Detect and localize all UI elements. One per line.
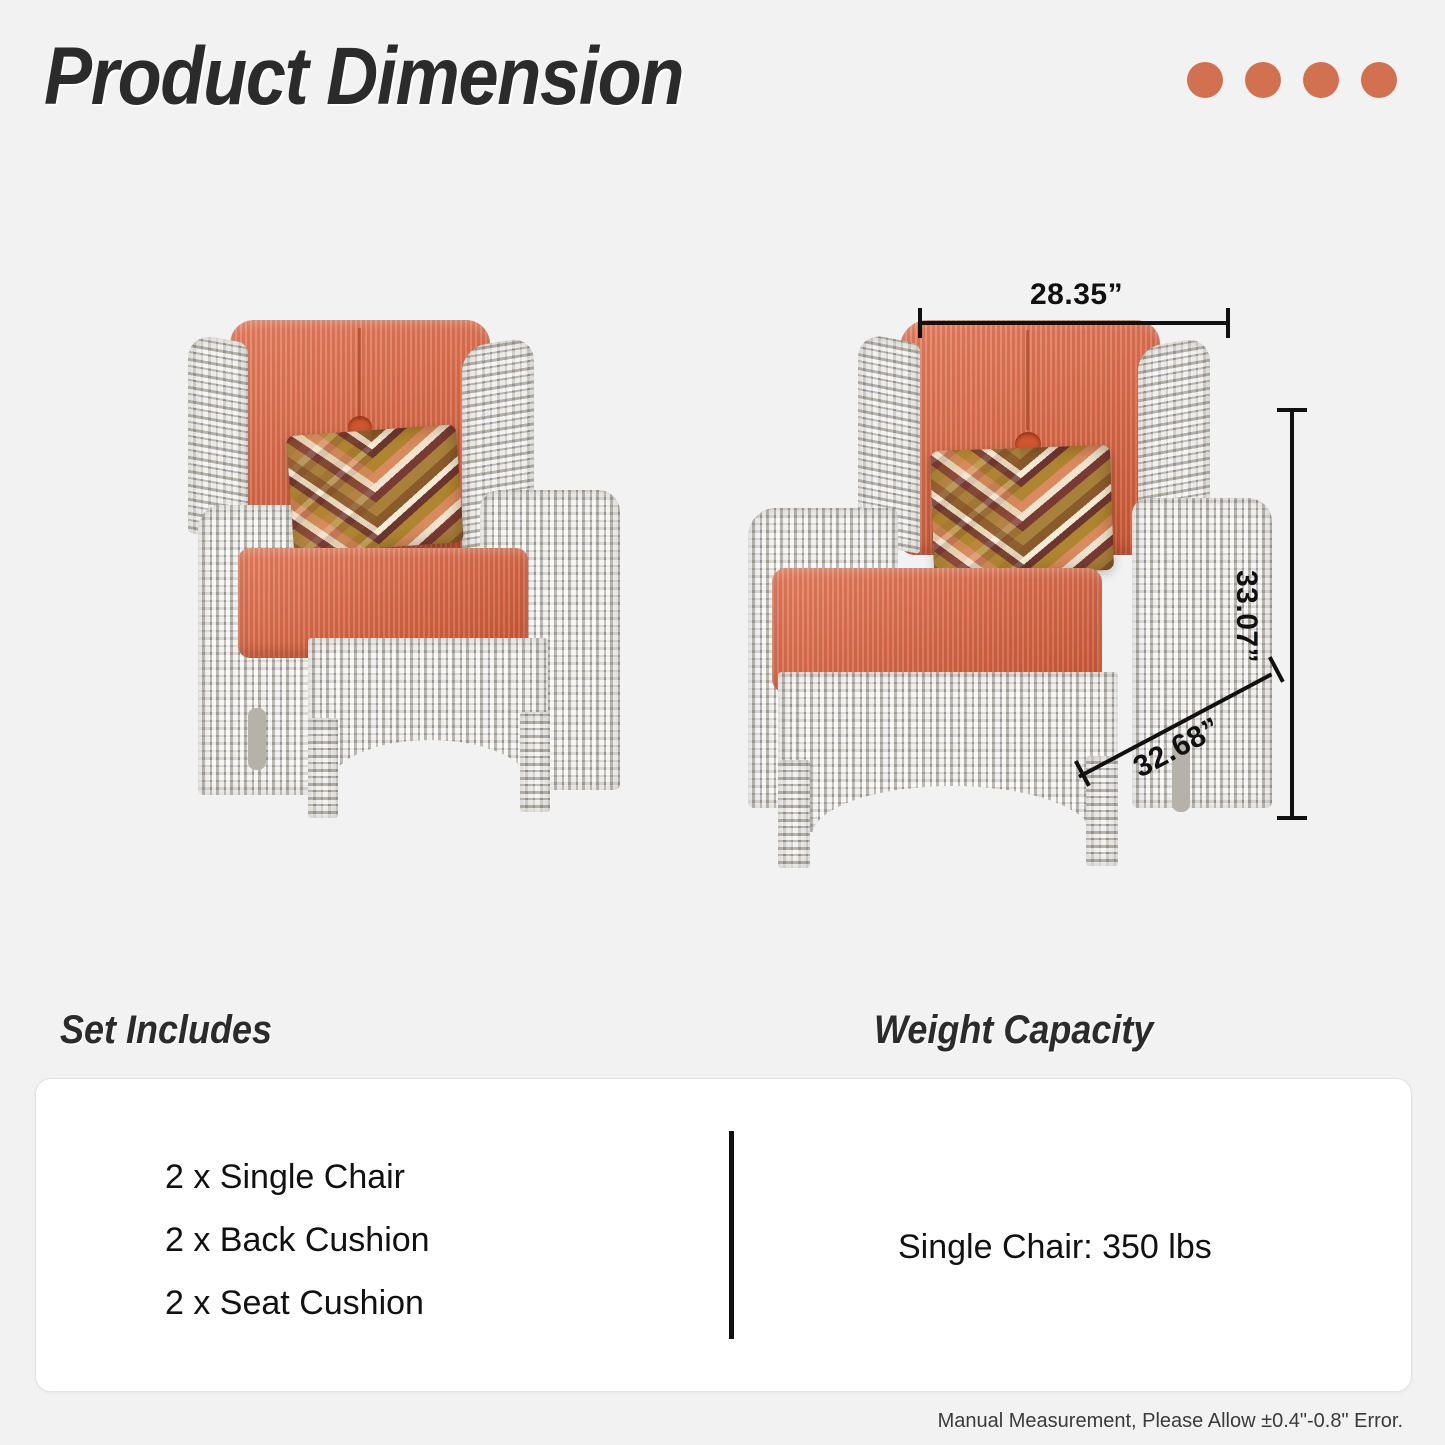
chair-leg-rear-left [248, 708, 266, 770]
list-item: 2 x Back Cushion [165, 1223, 430, 1257]
page-title: Product Dimension [44, 36, 683, 118]
measurement-disclaimer: Manual Measurement, Please Allow ±0.4"-0… [938, 1410, 1403, 1433]
set-includes-list: 2 x Single Chair 2 x Back Cushion 2 x Se… [165, 1160, 430, 1349]
chair-skirt-arch-right [812, 786, 1092, 886]
product-illustration: 28.35” 33.07” 32.68” [0, 170, 1445, 980]
weight-capacity-title: Weight Capacity [874, 1008, 1153, 1053]
dimension-height-line [1290, 410, 1294, 820]
dot-icon-1 [1187, 62, 1223, 98]
decorative-dots [1187, 62, 1397, 98]
list-item: 2 x Seat Cushion [165, 1286, 430, 1320]
dimension-height-cap-top [1277, 408, 1307, 412]
chair-leg-front-right-left [520, 712, 550, 812]
infographic-page: Product Dimension [0, 0, 1445, 1445]
throw-pillow-left [286, 424, 464, 554]
dimension-width-cap-right [1226, 308, 1230, 338]
card-divider [729, 1131, 734, 1339]
list-item: 2 x Single Chair [165, 1160, 430, 1194]
dot-icon-3 [1303, 62, 1339, 98]
back-cushion-seam-right [1026, 330, 1029, 430]
chair-left [180, 320, 660, 820]
throw-pillow-right [930, 445, 1114, 576]
chair-leg-front-left-right [778, 760, 810, 868]
back-cushion-seam-left [358, 328, 361, 420]
dimension-height-label: 33.07” [1229, 570, 1263, 663]
dot-icon-2 [1245, 62, 1281, 98]
dimension-height-cap-bottom [1277, 816, 1307, 820]
dot-icon-4 [1361, 62, 1397, 98]
chair-skirt-arch-left [330, 740, 530, 830]
chair-leg-front-left [308, 718, 338, 818]
set-includes-title: Set Includes [60, 1008, 272, 1053]
dimension-width-line [918, 321, 1230, 325]
dimension-width-label: 28.35” [1030, 278, 1123, 312]
weight-capacity-value: Single Chair: 350 lbs [898, 1228, 1212, 1267]
dimension-width-cap-left [918, 308, 922, 338]
chair-right [720, 320, 1260, 880]
